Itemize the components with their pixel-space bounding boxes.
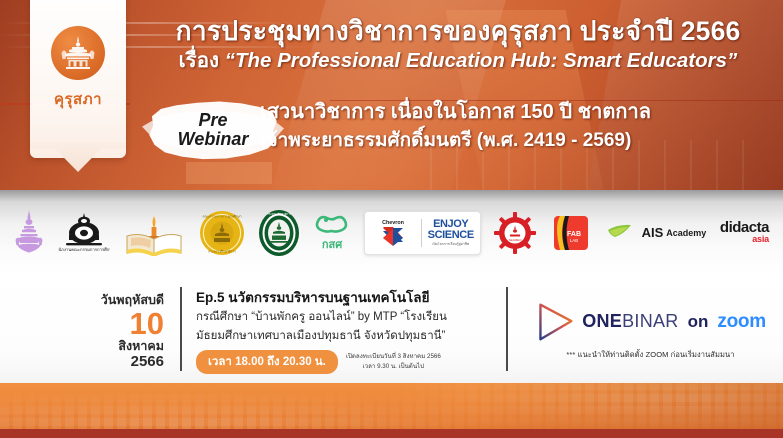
pre-webinar-badge: Pre Webinar [148,99,278,161]
registration-note-line-2: เวลา 9.30 น. เป็นต้นไป [363,363,425,370]
kurusapa-emblem-icon [51,26,105,80]
onebinar-bold-text: ONE [582,311,622,331]
webinar-poster: คุรุสภา การประชุมทางวิชาการของคุรุสภา ปร… [0,0,783,438]
event-month: สิงหาคม [118,340,164,353]
registration-note: เปิดลงทะเบียนวันที่ 3 สิงหาคม 2566 เวลา … [346,352,441,371]
event-time-badge: เวลา 18.00 ถึง 20.30 น. [196,350,338,374]
green-oval-seal-icon: กระทรวงศึกษาธิการ [258,209,300,257]
header-block-accent [186,162,272,184]
event-time-row: เวลา 18.00 ถึง 20.30 น. เปิดลงทะเบียนวัน… [196,350,496,374]
onebinar-wordmark: ONEBINAR [582,311,678,332]
episode-description-line-1: กรณีศึกษา “บ้านพักครู ออนไลน์” by MTP “โ… [196,309,496,326]
event-date-block: วันพฤหัสบดี 10 สิงหาคม 2566 [0,275,180,383]
page-title: การประชุมทางวิชาการของคุรุสภา ประจำปี 25… [140,16,776,46]
ais-academy-logo: AIS Academy [606,222,707,244]
poster-subject-line: เรื่อง “The Professional Education Hub: … [140,49,776,73]
subject-prefix: เรื่อง [179,49,225,72]
kosos-mark-icon [314,212,350,236]
obec-black-icon: สำนักงานคณะกรรมการการศึกษา [58,210,110,256]
kurusapa-logo: คุรุสภา [30,0,126,158]
gold-seal-logo: คณะกรรมการการอุดมศึกษา กระทรวงศึกษาธิการ [199,210,245,256]
badge-line-1: Pre [198,111,227,130]
event-year: 2566 [131,353,164,370]
svg-text:สำนักงานคณะกรรมการการศึกษา: สำนักงานคณะกรรมการการศึกษา [58,247,110,252]
poster-subtitle-block: Pre Webinar เสวนาวิชาการ เนื่องในโอกาส 1… [140,97,776,156]
subject-english-title: “The Professional Education Hub: Smart E… [225,49,738,72]
obec-black-logo: สำนักงานคณะกรรมการการศึกษา [58,210,110,256]
ais-swoosh-icon [606,222,640,244]
zoom-install-note: *** แนะนำให้ท่านติดตั้ง ZOOM ก่อนเริ่มงา… [566,349,734,361]
open-book-torch-logo [123,210,185,256]
chevron-enjoy-science-logo: Chevron ENJOY SCIENCE เปิดโลกการเรียนรู้… [364,211,481,255]
event-details-section: วันพฤหัสบดี 10 สิงหาคม 2566 Ep.5 นวัตกรร… [0,275,783,383]
event-day-number: 10 [130,308,164,339]
onebinar-logo: ONEBINAR on zoom [535,302,766,342]
platform-connector-text: on [688,312,709,332]
poster-title-block: การประชุมทางวิชาการของคุรุสภา ประจำปี 25… [140,16,776,73]
open-book-torch-icon [123,210,185,256]
enjoy-science-wordmark: ENJOY SCIENCE เปิดโลกการเรียนรู้สู่อาชีพ [428,219,474,246]
poster-subtitle-line-2: เจ้าพระยาธรรมศักดิ์มนตรี (พ.ศ. 2419 - 25… [260,127,776,156]
red-gear-icon: SEAMEO [494,212,536,254]
svg-text:กระทรวงศึกษาธิการ: กระทรวงศึกษาธิการ [267,212,292,216]
event-description-block: Ep.5 นวัตกรรมบริหารบนฐานเทคโนโลยี กรณีศึ… [182,275,502,383]
badge-line-2: Webinar [178,130,249,149]
episode-title: Ep.5 นวัตกรรมบริหารบนฐานเทคโนโลยี [196,290,496,307]
registration-note-line-1: เปิดลงทะเบียนวันที่ 3 สิงหาคม 2566 [346,353,441,360]
kurusapa-logo-text: คุรุสภา [54,87,102,111]
poster-header: คุรุสภา การประชุมทางวิชาการของคุรุสภา ปร… [0,0,783,190]
kosos-logo-label: กสศ [322,235,342,253]
poster-footer [0,383,783,438]
kurusapa-emblem-svg [58,34,98,72]
platform-block: ONEBINAR on zoom *** แนะนำให้ท่านติดตั้ง… [518,275,783,383]
kosos-logo: กสศ [314,212,350,253]
poster-subtitle-line-1: เสวนาวิชาการ เนื่องในโอกาส 150 ปี ชาตกาล [260,97,776,127]
svg-text:Chevron: Chevron [382,220,404,226]
royal-crest-logo [14,209,44,257]
fablab-red-logo: FAB LAB [550,212,592,254]
pre-webinar-badge-text: Pre Webinar [148,99,278,161]
partner-logo-strip: สำนักงานคณะกรรมการการศึกษา [0,190,783,275]
chevron-mark-icon: Chevron [371,216,415,250]
svg-text:FAB: FAB [567,231,581,238]
svg-text:SEAMEO: SEAMEO [509,238,523,242]
platform-divider [506,287,508,371]
event-day-of-week: วันพฤหัสบดี [101,294,164,307]
svg-text:LAB: LAB [570,238,578,243]
royal-crest-icon [14,209,44,257]
svg-text:กระทรวงศึกษาธิการ: กระทรวงศึกษาธิการ [208,249,236,253]
gold-seal-icon: คณะกรรมการการอุดมศึกษา กระทรวงศึกษาธิการ [199,210,245,256]
didacta-asia-logo: didacta asia [720,220,769,245]
episode-description-line-2: มัธยมศึกษาเทศบาลเมืองปทุมธานี จังหวัดปทุ… [196,328,496,345]
fablab-red-icon: FAB LAB [550,212,592,254]
onebinar-thin-text: BINAR [622,311,679,331]
zoom-wordmark: zoom [717,311,765,333]
onebinar-play-triangle-icon [535,302,575,342]
footer-red-bar [0,429,783,438]
red-gear-logo: SEAMEO [494,212,536,254]
green-oval-seal-logo: กระทรวงศึกษาธิการ [258,209,300,257]
